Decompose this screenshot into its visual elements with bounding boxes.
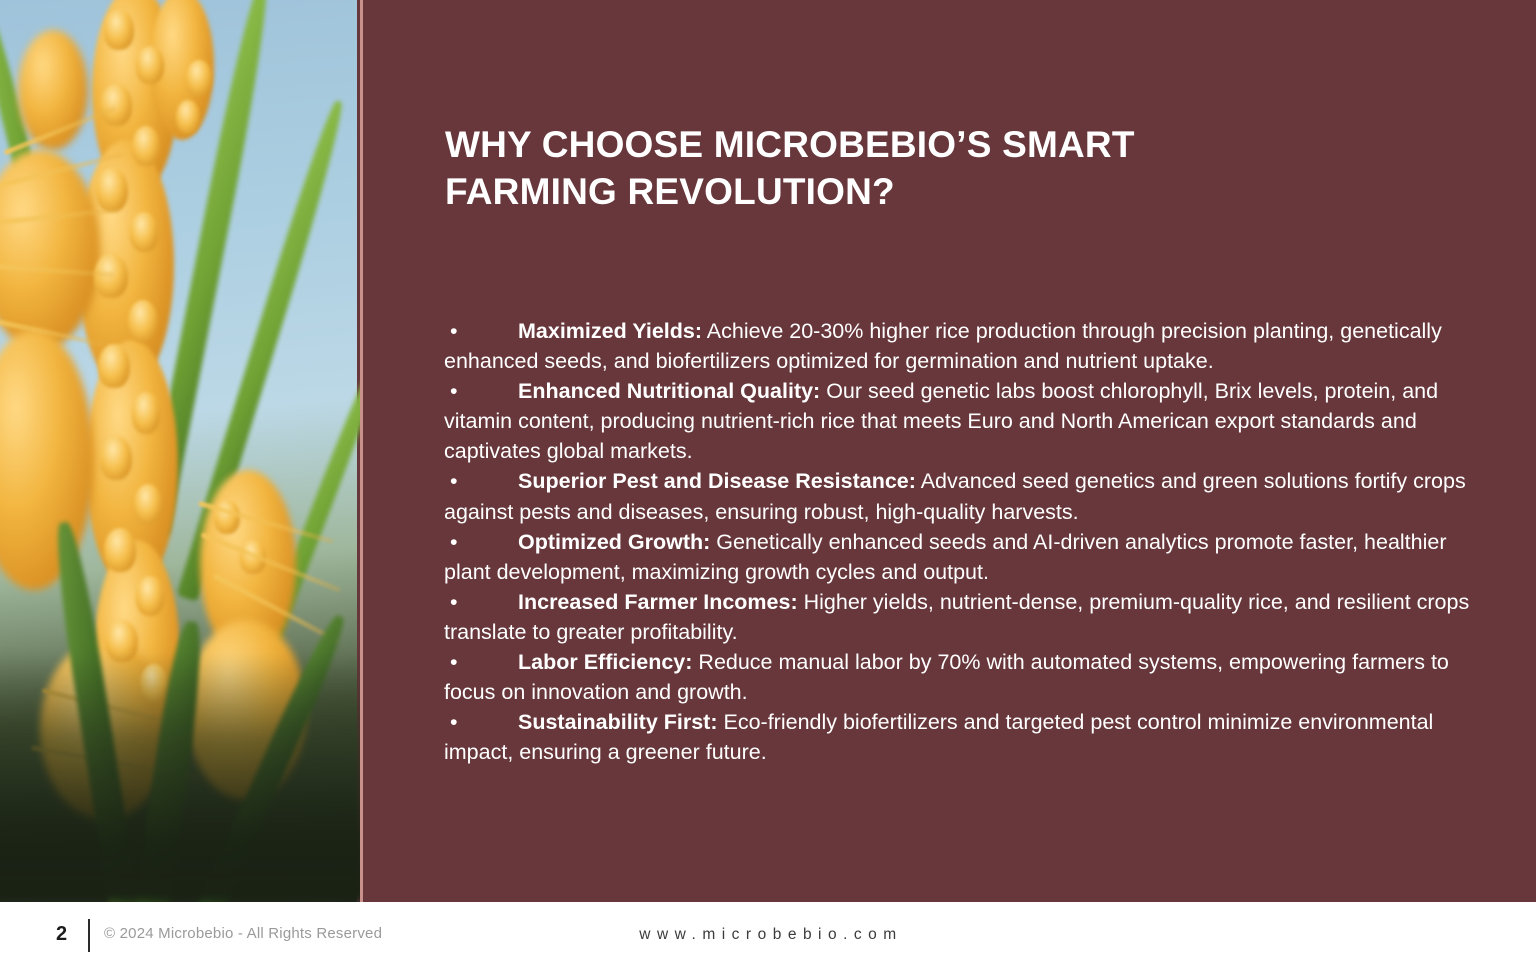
rice-grain <box>136 576 164 616</box>
list-item-heading: Maximized Yields: <box>518 319 702 343</box>
list-item-heading: Labor Efficiency: <box>518 650 692 674</box>
bullet-icon: • <box>444 707 518 737</box>
rice-grain <box>104 528 136 572</box>
bullet-icon: • <box>444 316 518 346</box>
list-item-heading: Sustainability First: <box>518 710 718 734</box>
bullet-icon: • <box>444 647 518 677</box>
rice-grain <box>130 212 158 252</box>
rice-grain <box>214 500 240 534</box>
rice-grain <box>100 436 132 480</box>
rice-grain <box>128 300 158 342</box>
rice-grain <box>136 46 164 84</box>
bullet-icon: • <box>444 527 518 557</box>
rice-grain <box>98 344 130 388</box>
slide-footer: 2 © 2024 Microbebio - All Rights Reserve… <box>0 902 1536 977</box>
list-item: •Enhanced Nutritional Quality: Our seed … <box>444 376 1486 466</box>
list-item-heading: Increased Farmer Incomes: <box>518 590 798 614</box>
list-item-heading: Superior Pest and Disease Resistance: <box>518 469 916 493</box>
bullet-icon: • <box>444 587 518 617</box>
bullet-icon: • <box>444 376 518 406</box>
list-item-heading: Optimized Growth: <box>518 530 710 554</box>
rice-grain <box>186 60 212 96</box>
rice-grain <box>100 84 132 126</box>
benefits-list: •Maximized Yields: Achieve 20-30% higher… <box>444 316 1486 767</box>
list-item: •Maximized Yields: Achieve 20-30% higher… <box>444 316 1486 376</box>
rice-grain <box>104 10 134 50</box>
foliage-shadow <box>0 652 363 902</box>
list-item: •Labor Efficiency: Reduce manual labor b… <box>444 647 1486 707</box>
list-item: •Optimized Growth: Genetically enhanced … <box>444 527 1486 587</box>
slide: WHY CHOOSE MICROBEBIO’S SMART FARMING RE… <box>0 0 1536 977</box>
list-item: •Superior Pest and Disease Resistance: A… <box>444 466 1486 526</box>
bullet-icon: • <box>444 466 518 496</box>
content-area: WHY CHOOSE MICROBEBIO’S SMART FARMING RE… <box>360 0 1536 902</box>
website-url[interactable]: www.microbebio.com <box>0 926 1536 944</box>
list-item: •Increased Farmer Incomes: Higher yields… <box>444 587 1486 647</box>
rice-grain <box>176 100 200 134</box>
rice-grain <box>132 392 160 434</box>
rice-grain <box>96 168 128 212</box>
list-item: •Sustainability First: Eco-friendly biof… <box>444 707 1486 767</box>
rice-grain <box>134 484 162 524</box>
rice-field-photo <box>0 0 357 902</box>
hero-image-panel <box>0 0 363 902</box>
rice-grain <box>132 126 160 166</box>
list-item-heading: Enhanced Nutritional Quality: <box>518 379 820 403</box>
page-title: WHY CHOOSE MICROBEBIO’S SMART FARMING RE… <box>445 121 1315 216</box>
